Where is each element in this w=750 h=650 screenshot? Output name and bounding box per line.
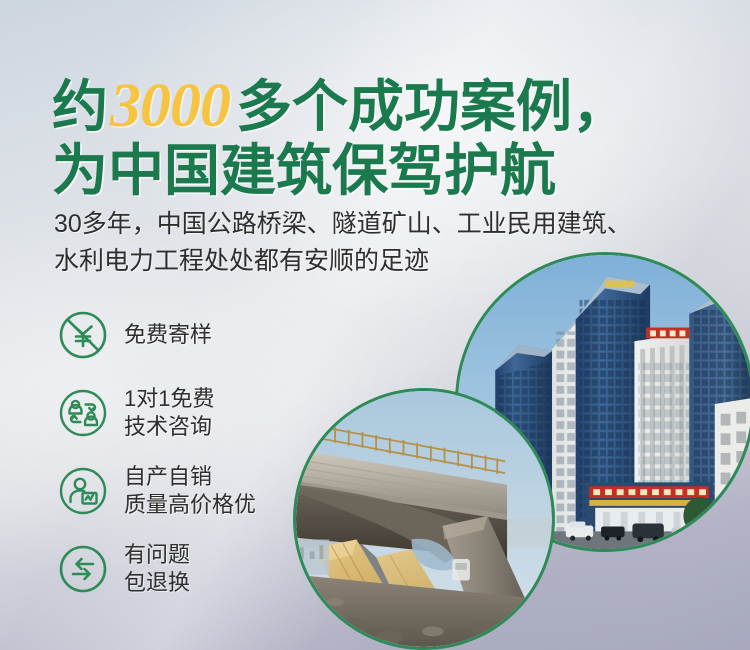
feature-label-line-1: 1对1免费 xyxy=(124,385,214,413)
feature-label: 1对1免费 技术咨询 xyxy=(124,385,214,441)
feature-item-one-on-one-consult[interactable]: 1对1免费 技术咨询 xyxy=(56,374,256,452)
feature-item-exchange-return[interactable]: 有问题 包退换 xyxy=(56,530,256,608)
self-production-icon xyxy=(56,464,110,518)
feature-label-line-1: 自产自销 xyxy=(124,463,256,491)
headline: 约3000多个成功案例， 为中国建筑保驾护航 xyxy=(52,74,712,203)
feature-label: 自产自销 质量高价格优 xyxy=(124,463,256,519)
headline-line-2: 为中国建筑保驾护航 xyxy=(52,139,712,203)
feature-item-free-sample[interactable]: 免费寄样 xyxy=(56,296,256,374)
bridge-photo-artwork xyxy=(296,391,552,647)
headline-suffix: 多个成功案例， xyxy=(236,75,628,138)
headline-prefix: 约 xyxy=(52,75,108,138)
headline-number: 3000 xyxy=(108,72,236,140)
exchange-return-icon xyxy=(56,542,110,596)
bridge-photo-inner xyxy=(296,391,552,647)
feature-label: 免费寄样 xyxy=(124,321,212,349)
free-sample-icon xyxy=(56,308,110,362)
feature-label-line-2: 质量高价格优 xyxy=(124,491,256,519)
feature-list: 免费寄样 1对1免费 技术咨询 xyxy=(56,296,256,608)
feature-label-line-1: 免费寄样 xyxy=(124,322,212,347)
feature-label: 有问题 包退换 xyxy=(124,541,190,597)
feature-label-line-1: 有问题 xyxy=(124,541,190,569)
subtitle-line-1: 30多年，中国公路桥梁、隧道矿山、工业民用建筑、 xyxy=(54,206,714,243)
feature-label-line-2: 包退换 xyxy=(124,569,190,597)
headline-line-1: 约3000多个成功案例， xyxy=(52,74,712,139)
feature-label-line-2: 技术咨询 xyxy=(124,413,214,441)
one-on-one-consult-icon xyxy=(56,386,110,440)
feature-item-self-production[interactable]: 自产自销 质量高价格优 xyxy=(56,452,256,530)
promo-banner: 约3000多个成功案例， 为中国建筑保驾护航 30多年，中国公路桥梁、隧道矿山、… xyxy=(0,0,750,650)
bridge-photo xyxy=(293,388,555,650)
